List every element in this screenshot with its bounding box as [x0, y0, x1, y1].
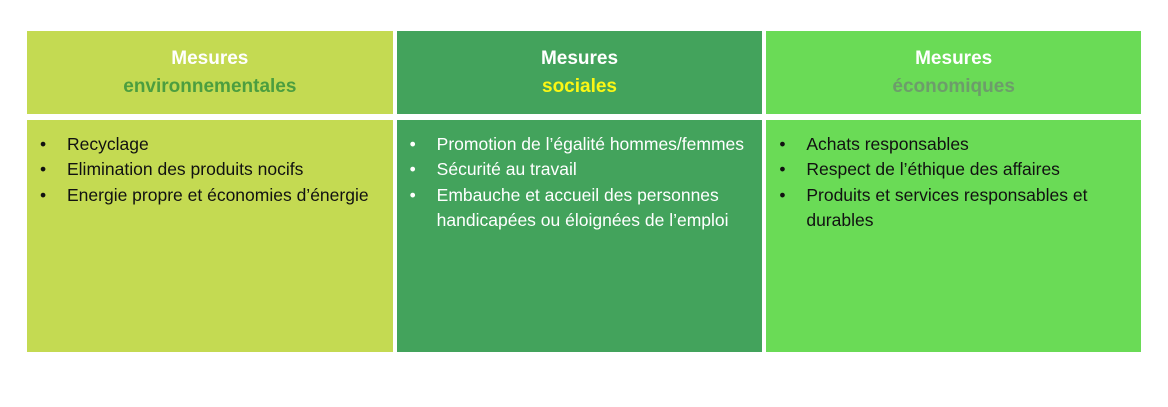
column-header-environnementales: Mesures environnementales [27, 31, 393, 114]
column-body-economiques: Achats responsables Respect de l’éthique… [766, 120, 1141, 352]
column-body-environnementales: Recyclage Elimination des produits nocif… [27, 120, 393, 352]
measures-table: Mesures environnementales Recyclage Elim… [27, 31, 1141, 352]
list-item: Embauche et accueil des personnes handic… [410, 183, 749, 233]
list-item: Promotion de l’égalité hommes/femmes [410, 132, 749, 157]
bullet-list-sociales: Promotion de l’égalité hommes/femmes Séc… [410, 132, 749, 232]
list-item: Respect de l’éthique des affaires [779, 157, 1127, 182]
column-economiques: Mesures économiques Achats responsables … [766, 31, 1141, 352]
list-item: Recyclage [40, 132, 379, 157]
bullet-list-economiques: Achats responsables Respect de l’éthique… [779, 132, 1127, 232]
list-item: Energie propre et économies d’énergie [40, 183, 379, 208]
column-body-sociales: Promotion de l’égalité hommes/femmes Séc… [397, 120, 763, 352]
list-item: Achats responsables [779, 132, 1127, 157]
column-header-title-line2: économiques [892, 73, 1014, 101]
list-item: Produits et services responsables et dur… [779, 183, 1127, 233]
column-header-title-line1: Mesures [541, 45, 618, 73]
list-item: Elimination des produits nocifs [40, 157, 379, 182]
column-header-title-line1: Mesures [915, 45, 992, 73]
column-header-title-line2: sociales [542, 73, 617, 101]
column-environnementales: Mesures environnementales Recyclage Elim… [27, 31, 393, 352]
column-header-sociales: Mesures sociales [397, 31, 763, 114]
bullet-list-environnementales: Recyclage Elimination des produits nocif… [40, 132, 379, 208]
column-sociales: Mesures sociales Promotion de l’égalité … [397, 31, 763, 352]
column-header-title-line1: Mesures [171, 45, 248, 73]
column-header-title-line2: environnementales [123, 73, 296, 101]
column-header-economiques: Mesures économiques [766, 31, 1141, 114]
list-item: Sécurité au travail [410, 157, 749, 182]
